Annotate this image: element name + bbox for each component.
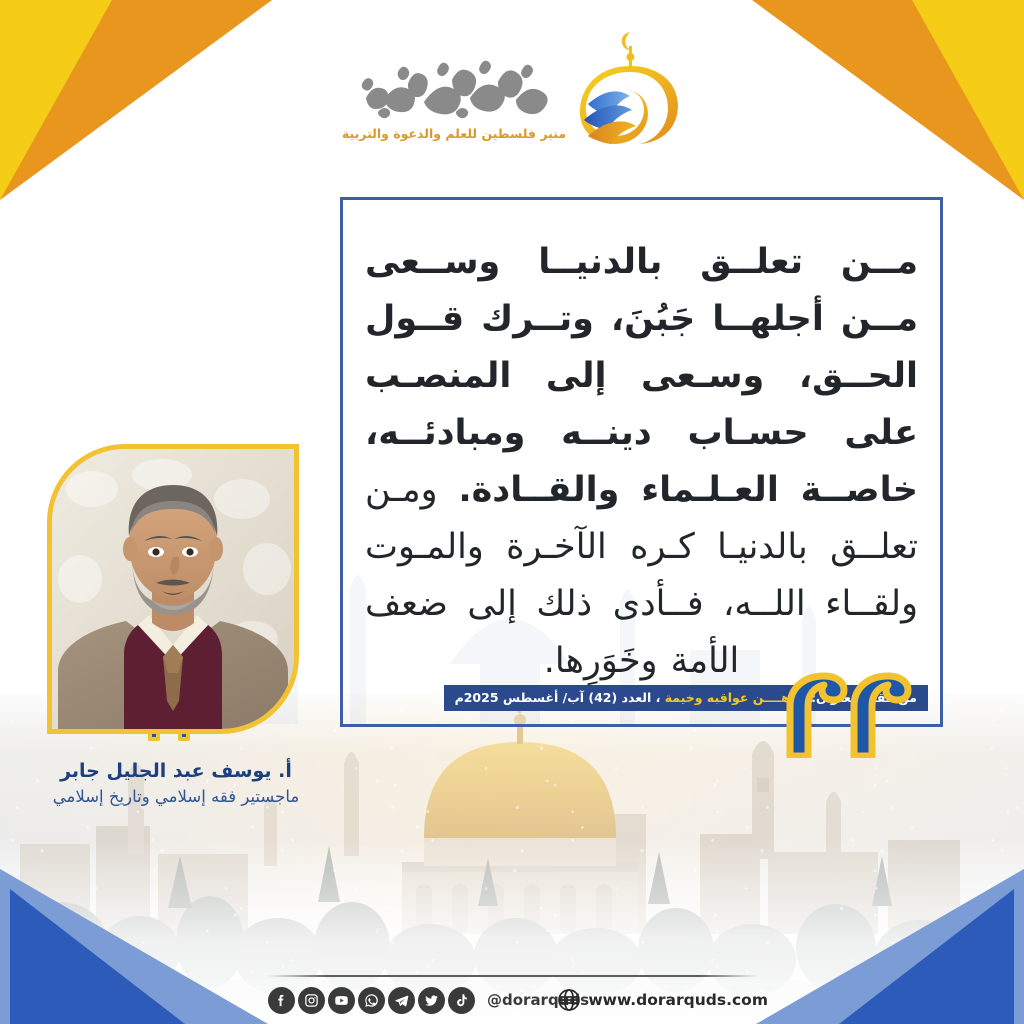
website-url[interactable]: www.dorarquds.com [588, 991, 768, 1009]
brand-tagline: منبر فلسطين للعلم والدعوة والتربية [342, 126, 566, 141]
brand-logo[interactable]: منبر فلسطين للعلم والدعوة والتربية [342, 26, 682, 150]
footer-bar: @dorarquds www.dorarquds.com [268, 982, 768, 1018]
youtube-icon[interactable] [328, 987, 355, 1014]
mosque-dome-crescent-icon [574, 26, 682, 150]
author-portrait-icon [52, 449, 294, 729]
facebook-icon[interactable] [268, 987, 295, 1014]
quote-line-5-bold: والقــادة. [458, 470, 619, 510]
quotation-mark-large-icon [784, 672, 912, 758]
source-suffix: ، العدد (42) آب/ أغسطس 2025م [455, 690, 665, 705]
author-title: ماجستير فقه إسلامي وتاريخ إسلامي [0, 787, 352, 806]
social-links: @dorarquds [268, 987, 589, 1014]
whatsapp-icon[interactable] [358, 987, 385, 1014]
corner-triangle-bottom-right-dark [839, 889, 1014, 1024]
logo-text-block: منبر فلسطين للعلم والدعوة والتربية [342, 36, 566, 141]
author-photo [47, 444, 299, 734]
quote-card: منبر فلسطين للعلم والدعوة والتربية مــن … [0, 0, 1024, 1024]
twitter-icon[interactable] [418, 987, 445, 1014]
telegram-icon[interactable] [388, 987, 415, 1014]
corner-triangle-top-right-yellow [912, 0, 1024, 200]
corner-triangle-bottom-left-dark [10, 889, 185, 1024]
website-link[interactable]: www.dorarquds.com [557, 982, 768, 1018]
corner-triangle-top-left-yellow [0, 0, 112, 200]
globe-icon [557, 988, 581, 1012]
quote-box: مــن تعلــق بالدنيــا وســعى مــن أجلهــ… [340, 197, 943, 727]
instagram-icon[interactable] [298, 987, 325, 1014]
author-name: أ. يوسف عبد الجليل جابر [0, 760, 352, 782]
tiktok-icon[interactable] [448, 987, 475, 1014]
logo-calligraphy-icon [356, 54, 552, 120]
footer-divider [268, 975, 758, 977]
quote-text: مــن تعلــق بالدنيــا وســعى مــن أجلهــ… [365, 234, 918, 690]
